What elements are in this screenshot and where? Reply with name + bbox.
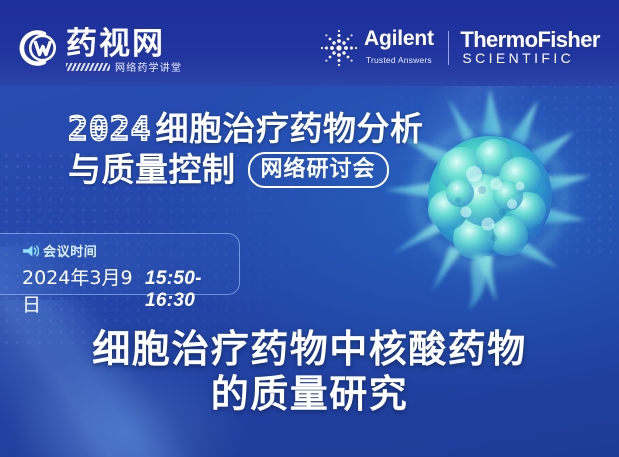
topic-headline: 细胞治疗药物中核酸药物 的质量研究 — [0, 327, 619, 417]
title-text-1: 细胞治疗药物分析 — [155, 112, 423, 145]
thermofisher-subtitle: SCIENTIFIC — [460, 50, 574, 66]
logo-divider — [448, 31, 449, 65]
brand-subtitle-cn: 网络药学讲堂 — [115, 59, 182, 74]
event-year: 2024 — [68, 112, 155, 145]
title-text-2: 与质量控制 — [68, 153, 236, 187]
agilent-wordmark: Agilent — [364, 27, 434, 50]
megaphone-icon — [22, 244, 39, 258]
thermofisher-wordmark: ThermoFisher — [460, 27, 600, 52]
poster-header: 药视网 网络药学讲堂 — [0, 0, 619, 86]
title-line-1: 2024 细胞治疗药物分析 — [68, 112, 423, 145]
event-title: 2024 细胞治疗药物分析 与质量控制 网络研讨会 — [68, 112, 423, 188]
webinar-badge: 网络研讨会 — [248, 152, 389, 188]
meeting-time-label: 会议时间 — [43, 241, 97, 260]
agilent-logo[interactable]: Agilent Trusted Answers — [318, 27, 434, 69]
headline-line-1: 细胞治疗药物中核酸药物 — [0, 327, 619, 372]
webinar-poster: 药视网 网络药学讲堂 — [0, 0, 619, 457]
meeting-date: 2024年3月9日 — [22, 263, 136, 317]
thermofisher-logo[interactable]: ThermoFisher SCIENTIFIC — [460, 29, 619, 67]
agilent-starburst-icon — [318, 27, 360, 69]
brand-stripe-decoration — [66, 63, 110, 71]
brand-name-cn: 药视网 — [66, 26, 165, 62]
meeting-time-header: 会议时间 — [22, 241, 239, 260]
agilent-tagline: Trusted Answers — [366, 55, 432, 65]
cw-circle-logo-icon — [14, 26, 60, 70]
headline-line-2: 的质量研究 — [0, 372, 619, 417]
meeting-time-value: 2024年3月9日 15:50-16:30 — [22, 263, 239, 317]
meeting-time-card: 会议时间 2024年3月9日 15:50-16:30 — [0, 233, 240, 295]
partner-logos: Agilent Trusted Answers ThermoFisher SCI… — [318, 26, 619, 70]
title-line-2: 与质量控制 网络研讨会 — [68, 152, 423, 188]
brand-logo[interactable]: 药视网 网络药学讲堂 — [14, 26, 182, 70]
meeting-time-range: 15:50-16:30 — [145, 268, 239, 312]
